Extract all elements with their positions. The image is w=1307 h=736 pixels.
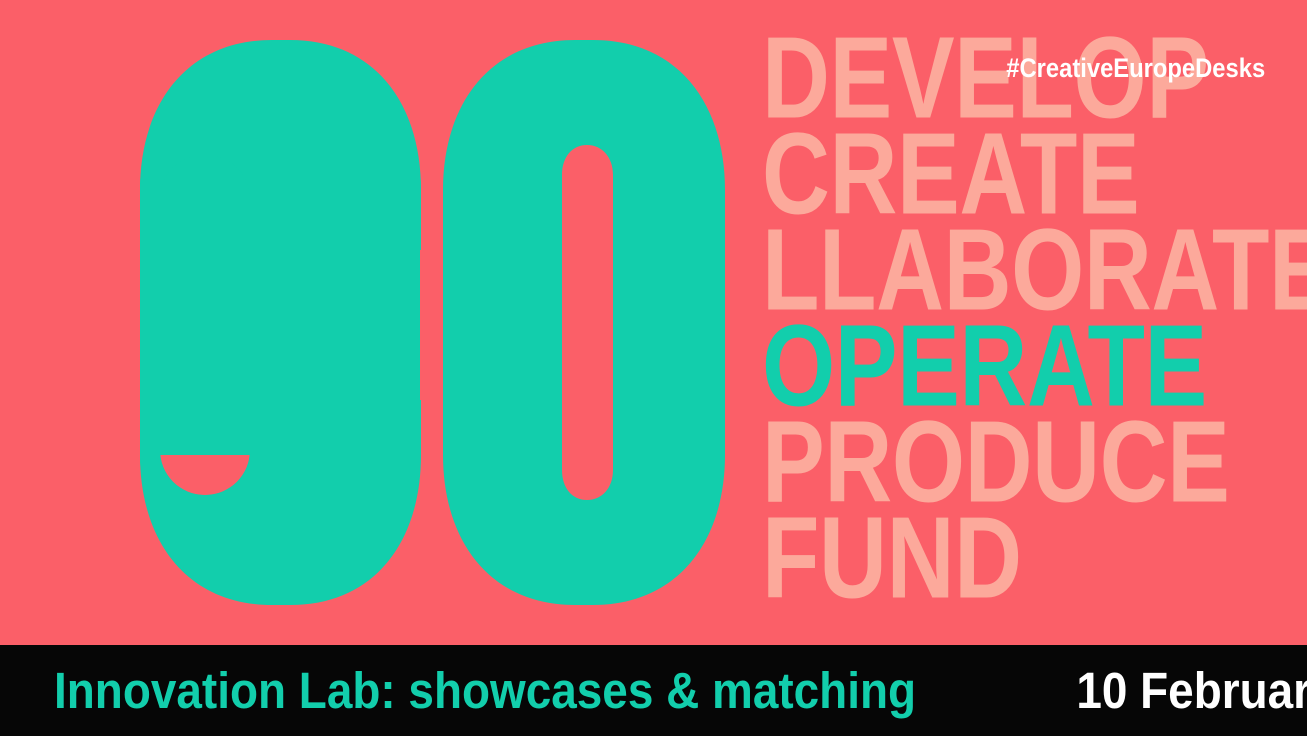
campaign-hashtag: #CreativeEuropeDesks bbox=[1006, 53, 1265, 84]
letter-c-shape bbox=[140, 40, 421, 605]
letter-o-shape bbox=[443, 40, 725, 605]
promo-poster: DEVELOP CREATE LLABORATE OPERATE PRODUCE… bbox=[0, 0, 1307, 736]
event-title: Innovation Lab: showcases & matching bbox=[54, 665, 916, 716]
event-datetime: 10 February at 14:00 (CET) bbox=[1076, 665, 1307, 716]
word-fund: FUND bbox=[762, 508, 1022, 608]
co-logotype bbox=[0, 0, 760, 645]
word-row: FUND bbox=[762, 510, 1302, 606]
event-bar: Innovation Lab: showcases & matching 10 … bbox=[0, 645, 1307, 736]
verb-word-stack: DEVELOP CREATE LLABORATE OPERATE PRODUCE… bbox=[762, 30, 1302, 620]
